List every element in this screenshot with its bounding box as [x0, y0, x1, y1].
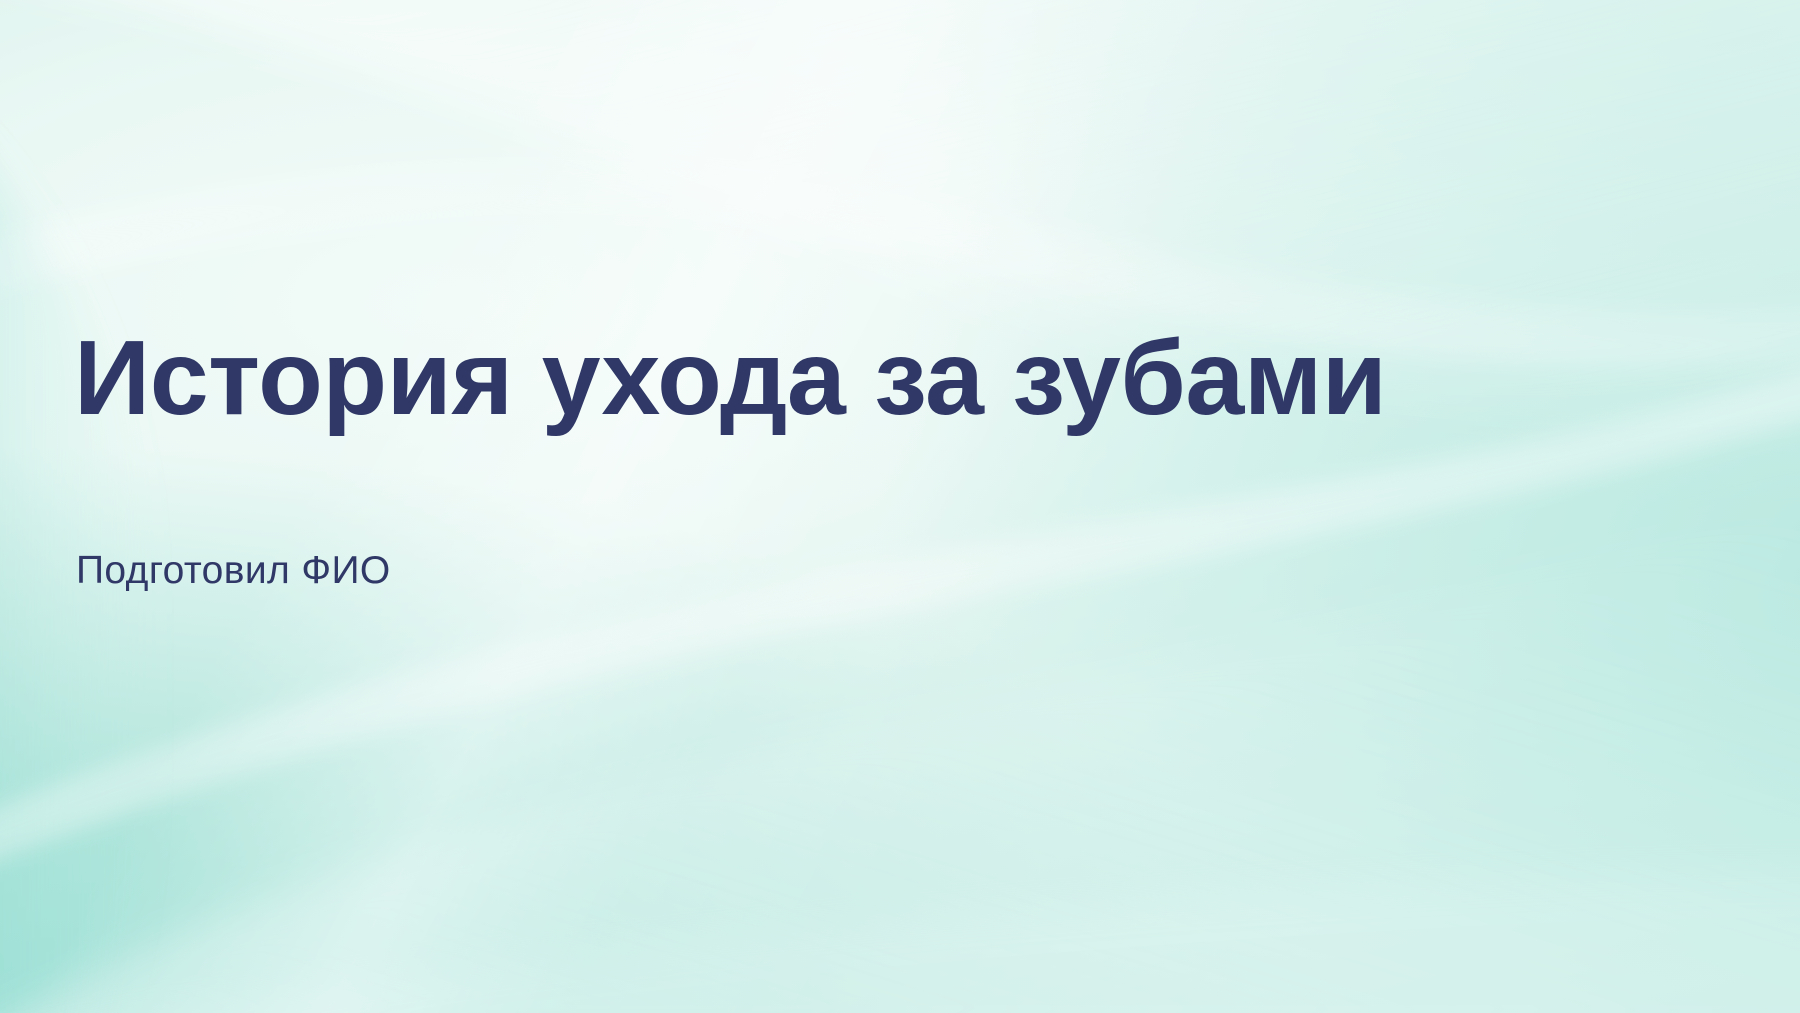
slide-subtitle: Подготовил ФИО [76, 548, 391, 595]
page-title: История ухода за зубами [74, 322, 1754, 434]
slide-content: История ухода за зубами Подготовил ФИО [74, 0, 1754, 1013]
title-slide: История ухода за зубами Подготовил ФИО [0, 0, 1800, 1013]
